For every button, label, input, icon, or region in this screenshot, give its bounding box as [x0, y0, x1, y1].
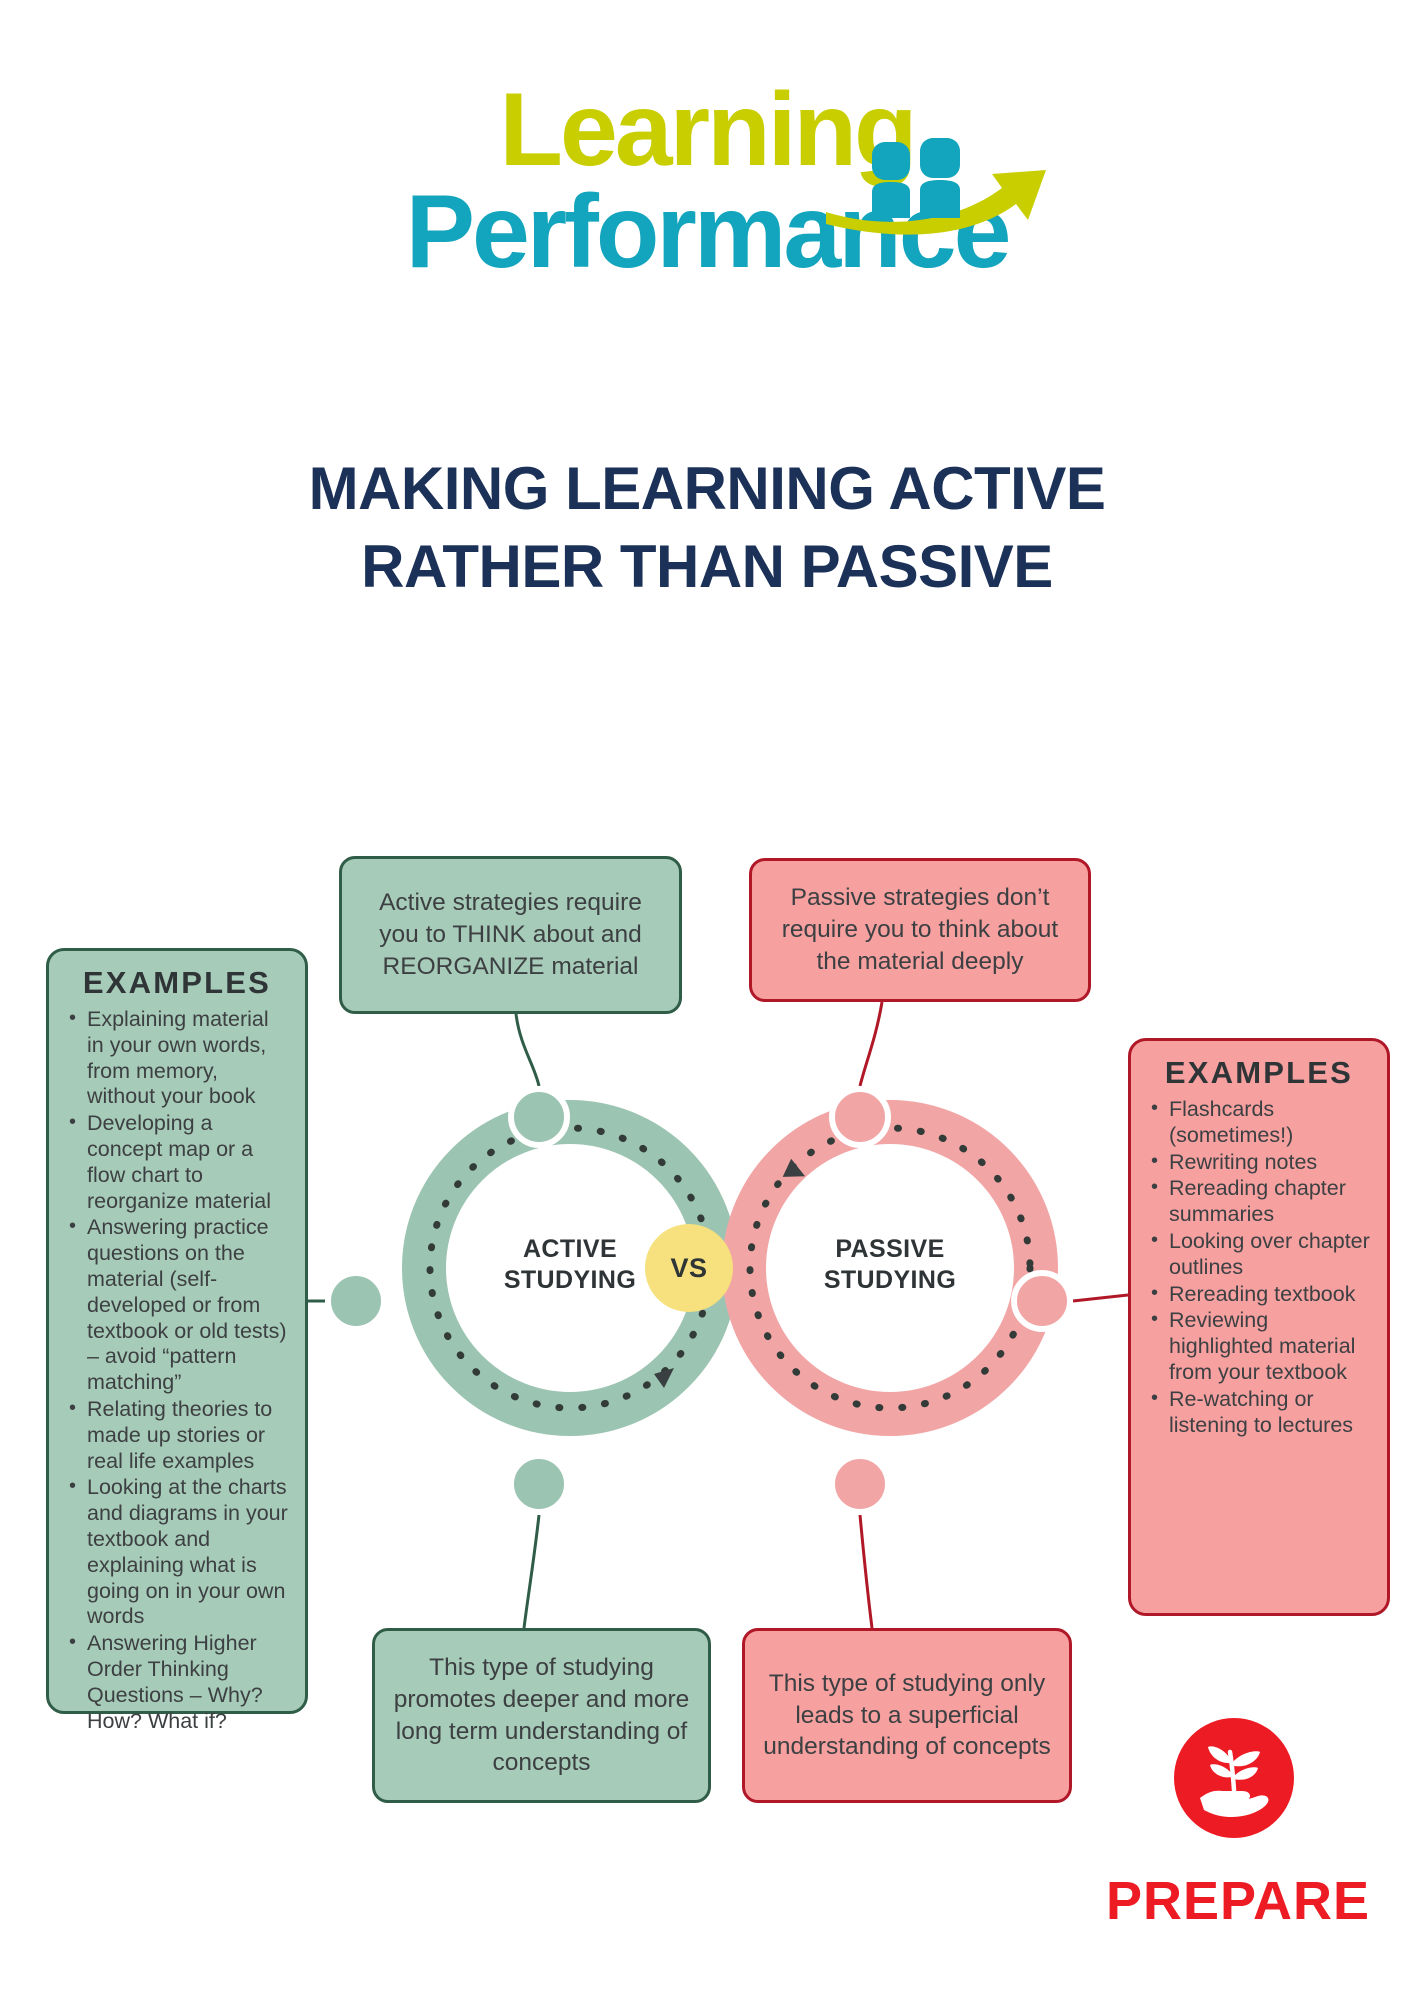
- active-node-top: [508, 1086, 570, 1148]
- list-item: Looking over chapter outlines: [1147, 1229, 1371, 1281]
- list-item: Relating theories to made up stories or …: [65, 1397, 289, 1474]
- passive-ring-label-line1: PASSIVE: [774, 1234, 1006, 1265]
- active-top-callout: Active strategies require you to THINK a…: [339, 856, 682, 1014]
- infographic-page: Learning Performance MAKING LEARNING ACT…: [0, 0, 1414, 2000]
- list-item: Re-watching or listening to lectures: [1147, 1387, 1371, 1439]
- active-node-left: [325, 1270, 387, 1332]
- passive-bottom-callout: This type of studying only leads to a su…: [742, 1628, 1072, 1803]
- prepare-logo: PREPARE: [1080, 1718, 1396, 1962]
- active-bottom-callout: This type of studying promotes deeper an…: [372, 1628, 711, 1803]
- passive-examples-list: Flashcards (sometimes!) Rewriting notes …: [1147, 1097, 1371, 1438]
- list-item: Answering practice questions on the mate…: [65, 1215, 289, 1396]
- active-node-bottom: [508, 1453, 570, 1515]
- active-vs-passive-diagram: ACTIVE STUDYING PASSIVE STUDYING VS A: [0, 0, 1414, 2000]
- list-item: Rereading chapter summaries: [1147, 1176, 1371, 1228]
- vs-badge: VS: [645, 1224, 733, 1312]
- passive-node-top: [829, 1086, 891, 1148]
- passive-ring-label: PASSIVE STUDYING: [774, 1234, 1006, 1296]
- passive-ring-label-line2: STUDYING: [774, 1265, 1006, 1296]
- list-item: Rewriting notes: [1147, 1150, 1371, 1176]
- list-item: Answering Higher Order Thinking Question…: [65, 1631, 289, 1734]
- list-item: Developing a concept map or a flow chart…: [65, 1111, 289, 1214]
- list-item: Rereading textbook: [1147, 1282, 1371, 1308]
- prepare-wordmark: PREPARE: [1080, 1870, 1396, 1932]
- active-examples-panel: EXAMPLES Explaining material in your own…: [46, 948, 308, 1714]
- passive-top-callout: Passive strategies don’t require you to …: [749, 858, 1091, 1002]
- hand-holding-sprout-icon: [1174, 1718, 1294, 1838]
- list-item: Explaining material in your own words, f…: [65, 1007, 289, 1110]
- passive-node-bottom: [829, 1453, 891, 1515]
- active-examples-list: Explaining material in your own words, f…: [65, 1007, 289, 1734]
- passive-examples-panel: EXAMPLES Flashcards (sometimes!) Rewriti…: [1128, 1038, 1390, 1616]
- list-item: Flashcards (sometimes!): [1147, 1097, 1371, 1149]
- passive-node-right: [1011, 1270, 1073, 1332]
- passive-examples-title: EXAMPLES: [1147, 1055, 1371, 1091]
- list-item: Reviewing highlighted material from your…: [1147, 1308, 1371, 1385]
- active-examples-title: EXAMPLES: [65, 965, 289, 1001]
- list-item: Looking at the charts and diagrams in yo…: [65, 1475, 289, 1630]
- passive-studying-ring: PASSIVE STUDYING: [718, 1096, 1062, 1440]
